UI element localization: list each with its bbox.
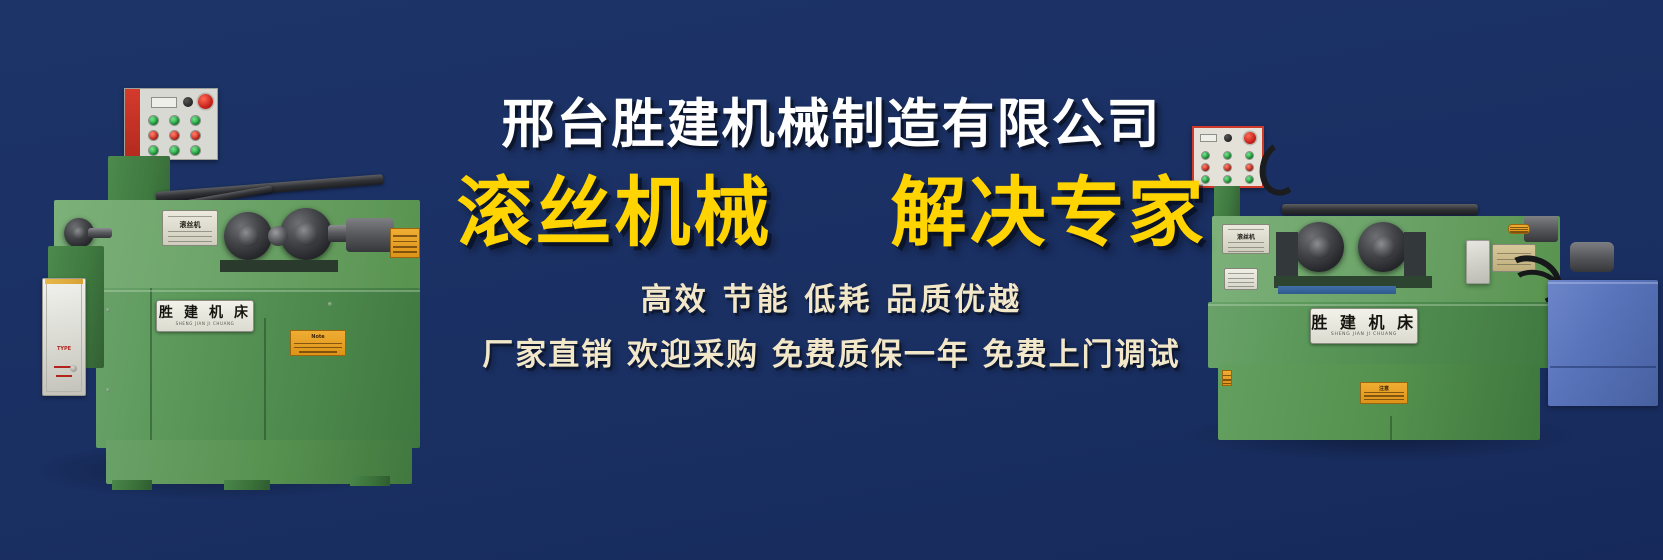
right-machine-side-label xyxy=(1222,370,1232,386)
left-machine-shaft xyxy=(88,228,112,238)
right-machine-die-carrier xyxy=(1276,232,1298,276)
right-machine-brandplate: 胜 建 机 床 SHENG JIAN JI CHUANG xyxy=(1310,308,1418,344)
right-machine-hydraulic-unit xyxy=(1548,280,1658,406)
right-machine-die-wheel xyxy=(1358,222,1408,272)
panel-button[interactable] xyxy=(149,131,158,140)
panel-button[interactable] xyxy=(149,146,158,155)
company-name: 邢台胜建机械制造有限公司 xyxy=(502,98,1162,151)
left-machine-die-wheel xyxy=(224,212,272,260)
right-machine-die-wheel xyxy=(1294,222,1344,272)
hydraulic-unit-seam xyxy=(1550,366,1656,368)
panel-button[interactable] xyxy=(170,116,179,125)
right-machine-tag-plate xyxy=(1224,268,1258,290)
panel-button[interactable] xyxy=(1246,152,1253,159)
headline-row: 滚丝机械 解决专家 xyxy=(457,175,1207,251)
headline-left: 滚丝机械 xyxy=(457,175,773,251)
right-machine-slide-head xyxy=(1466,240,1490,284)
left-machine-side-cabinet[interactable]: TYPE xyxy=(42,278,86,396)
left-machine: 胜 建 机 床 SHENG JIAN JI CHUANG 滚丝机 Note xyxy=(28,88,420,488)
panel-button[interactable] xyxy=(191,146,200,155)
left-machine-hub xyxy=(268,226,288,246)
right-machine-terminal-block xyxy=(1508,224,1530,234)
left-machine-foot xyxy=(112,480,152,490)
panel-button[interactable] xyxy=(1246,176,1253,183)
specplate-title: 滚丝机 xyxy=(1223,232,1269,241)
hydraulic-unit-highlight xyxy=(1548,282,1658,284)
panel-knob[interactable] xyxy=(183,97,193,107)
right-machine-coolant-tray xyxy=(1278,286,1396,294)
left-machine-body-seam xyxy=(264,318,266,448)
panel-knob[interactable] xyxy=(1224,134,1232,142)
right-machine-plinth-seam xyxy=(1390,416,1392,440)
right-machine: 滚丝机 胜 建 机 床 SHENG JIAN JI CHUANG 注意 xyxy=(1178,120,1663,440)
left-machine-body xyxy=(96,288,420,448)
panel-button[interactable] xyxy=(191,131,200,140)
panel-display xyxy=(151,97,177,108)
panel-button[interactable] xyxy=(1224,176,1231,183)
left-machine-foot xyxy=(224,480,270,490)
brandplate-pinyin: SHENG JIAN JI CHUANG xyxy=(176,322,235,326)
left-machine-body-highlight xyxy=(96,290,420,292)
side-cabinet-text: TYPE xyxy=(43,346,85,352)
specplate-title: 滚丝机 xyxy=(163,220,217,230)
panel-button[interactable] xyxy=(149,116,158,125)
brandplate-pinyin: SHENG JIAN JI CHUANG xyxy=(1331,333,1397,338)
left-machine-die-block xyxy=(220,260,338,272)
headline-right: 解决专家 xyxy=(891,175,1207,251)
left-machine-body-seam xyxy=(150,288,152,448)
left-machine-side-label xyxy=(390,228,420,258)
panel-red-edge xyxy=(125,89,140,159)
panel-button[interactable] xyxy=(1202,152,1209,159)
panel-button[interactable] xyxy=(1224,152,1231,159)
brandplate-chinese: 胜 建 机 床 xyxy=(1311,315,1416,331)
tagline-primary: 高效 节能 低耗 品质优越 xyxy=(641,285,1022,316)
panel-button[interactable] xyxy=(191,116,200,125)
right-machine-warning-label: 注意 xyxy=(1360,382,1408,404)
tagline-secondary: 厂家直销 欢迎采购 免费质保一年 免费上门调试 xyxy=(482,340,1180,371)
left-machine-bolt xyxy=(328,302,332,306)
left-machine-foot xyxy=(350,476,390,486)
promo-banner: 胜 建 机 床 SHENG JIAN JI CHUANG 滚丝机 Note xyxy=(0,0,1663,560)
right-machine-top-rail xyxy=(1282,204,1478,215)
brandplate-chinese: 胜 建 机 床 xyxy=(159,306,251,320)
right-machine-pump-motor xyxy=(1570,242,1614,272)
left-machine-motor xyxy=(346,218,394,252)
right-machine-die-carrier xyxy=(1404,232,1426,276)
panel-button[interactable] xyxy=(170,131,179,140)
panel-button[interactable] xyxy=(170,146,179,155)
panel-button[interactable] xyxy=(1224,164,1231,171)
emergency-stop-button[interactable] xyxy=(1244,132,1256,144)
panel-display xyxy=(1200,134,1217,142)
left-machine-bolt xyxy=(106,308,110,312)
right-machine-body-highlight xyxy=(1208,304,1560,306)
left-machine-control-panel[interactable] xyxy=(124,88,218,160)
right-machine-specplate: 滚丝机 xyxy=(1222,224,1270,254)
right-machine-panel-riser xyxy=(1214,186,1240,220)
left-machine-bolt xyxy=(106,388,110,392)
warning-label-title: Note xyxy=(291,334,345,340)
panel-button[interactable] xyxy=(1246,164,1253,171)
left-machine-brandplate: 胜 建 机 床 SHENG JIAN JI CHUANG xyxy=(156,300,254,332)
left-machine-warning-label: Note xyxy=(290,330,346,356)
emergency-stop-button[interactable] xyxy=(198,94,213,109)
left-machine-specplate: 滚丝机 xyxy=(162,210,218,246)
